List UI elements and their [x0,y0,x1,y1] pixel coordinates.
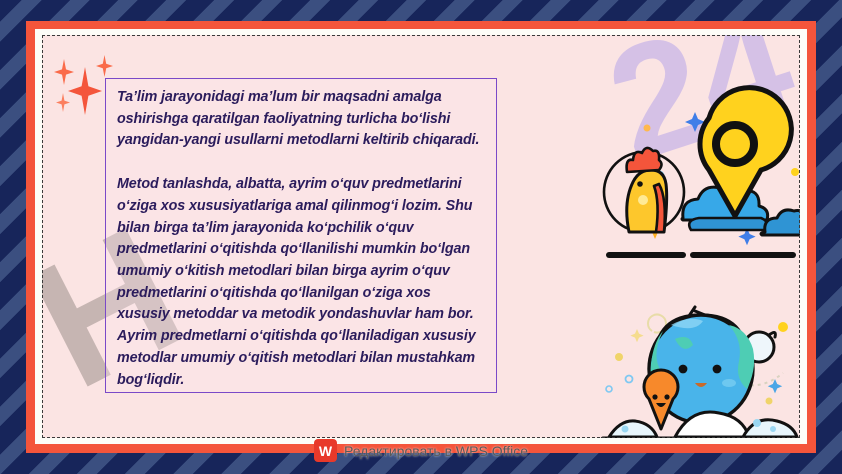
sparkle-small-icon [54,59,74,85]
slide-stage: H 24 Ta’lim jarayonidagi ma’lum bir maqs… [0,0,842,474]
wps-edit-label[interactable]: Редактировать в WPS Office [344,443,528,459]
sparkle-small-icon [96,55,113,77]
sparkle-large-icon [68,67,102,115]
wps-edit-bar[interactable]: W Редактировать в WPS Office [0,439,842,462]
sparkle-tiny-icon [56,93,70,112]
globe-character-illustration [597,305,800,438]
map-pin-rooster-clouds-illustration [587,80,800,280]
paragraph-one: Ta’lim jarayonidagi ma’lum bir maqsadni … [117,87,486,152]
content-textbox[interactable]: Ta’lim jarayonidagi ma’lum bir maqsadni … [105,78,497,393]
slide-canvas: H 24 Ta’lim jarayonidagi ma’lum bir maqs… [42,35,800,438]
wps-logo-icon: W [314,439,337,462]
paragraph-two: Metod tanlashda, albatta, ayrim o‘quv pr… [117,174,486,391]
